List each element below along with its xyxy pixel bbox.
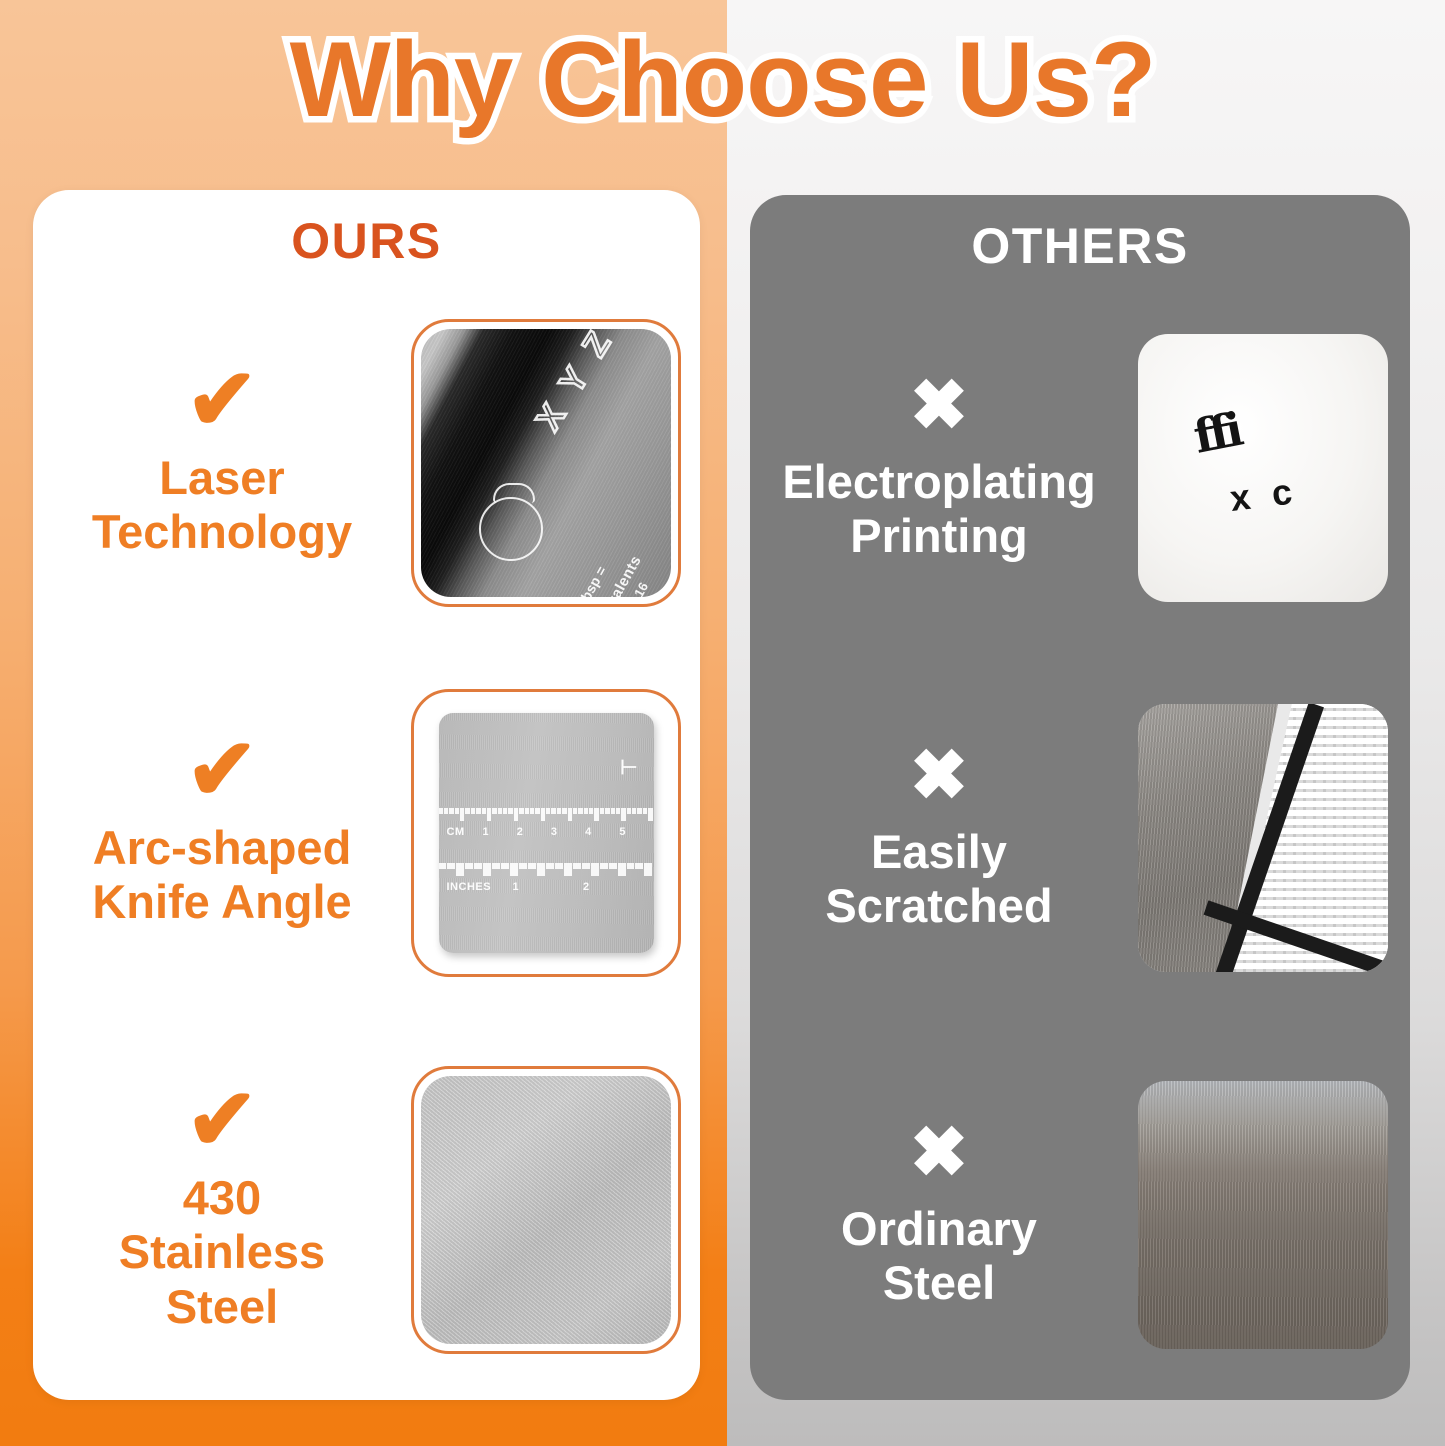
ruler-inch-numbers: 1 2 bbox=[439, 881, 654, 893]
others-row-3-text: ✖ Ordinary Steel bbox=[750, 1119, 1128, 1311]
ours-row-430-stainless-steel: ✔ 430 Stainless Steel bbox=[33, 1045, 700, 1375]
others-row-3-label-line1: Ordinary bbox=[760, 1202, 1118, 1257]
comparison-infographic: Why Choose Us? OURS ✔ Laser Technology X… bbox=[0, 0, 1445, 1446]
checkmark-icon: ✔ bbox=[43, 366, 401, 435]
x-mark-icon: ✖ bbox=[760, 372, 1118, 439]
others-row-2-label-line2: Scratched bbox=[760, 879, 1118, 934]
flaking-letters-bottom: x c bbox=[1228, 470, 1301, 520]
x-mark-icon: ✖ bbox=[760, 1119, 1118, 1186]
brushed-stainless-steel-photo bbox=[421, 1076, 671, 1344]
others-row-3-label-line2: Steel bbox=[760, 1256, 1118, 1311]
engraved-letters: X Y Z bbox=[529, 329, 622, 438]
ours-row-3-text: ✔ 430 Stainless Steel bbox=[33, 1086, 411, 1334]
x-mark-icon: ✖ bbox=[760, 742, 1118, 809]
others-row-2-text: ✖ Easily Scratched bbox=[750, 742, 1128, 934]
others-header: OTHERS bbox=[750, 217, 1410, 275]
engraved-corner-bracket: ⊢ bbox=[620, 755, 637, 780]
ruler-cm-number: 1 bbox=[483, 826, 517, 838]
ruler-cm-numbers: 1 2 3 4 5 bbox=[439, 826, 654, 838]
others-row-1-label: Electroplating Printing bbox=[760, 455, 1118, 564]
ours-panel: OURS ✔ Laser Technology X Y Z Measure Eq… bbox=[33, 190, 700, 1400]
others-row-2-label-line1: Easily bbox=[760, 825, 1118, 880]
others-row-1-image-wrap: ffi x c bbox=[1128, 334, 1398, 602]
scratched-metal-mesh-photo bbox=[1138, 704, 1388, 972]
ours-header: OURS bbox=[33, 212, 700, 270]
engraved-cup-row: cup = fl oz = tbsp = bbox=[534, 563, 609, 597]
ours-row-1-text: ✔ Laser Technology bbox=[33, 366, 411, 560]
ours-row-1-label: Laser Technology bbox=[43, 451, 401, 560]
ours-row-2-label-line2: Knife Angle bbox=[43, 875, 401, 930]
ours-row-3-label-line3: Steel bbox=[43, 1280, 401, 1335]
ruler-edge-plate-photo: ⊢ CM 1 2 3 bbox=[439, 713, 654, 953]
ours-row-1-label-line2: Technology bbox=[43, 505, 401, 560]
ruler-inch-ticks bbox=[439, 863, 654, 877]
ours-row-laser-technology: ✔ Laser Technology X Y Z Measure Equival… bbox=[33, 298, 700, 628]
ours-row-2-label: Arc-shaped Knife Angle bbox=[43, 821, 401, 930]
ours-row-arc-shaped-knife-angle: ✔ Arc-shaped Knife Angle ⊢ bbox=[33, 668, 700, 998]
ruler-inch-number: 2 bbox=[583, 881, 654, 893]
ruler-cm-number: 5 bbox=[619, 826, 653, 838]
ruler-cm-number: 3 bbox=[551, 826, 585, 838]
checkmark-icon: ✔ bbox=[43, 1086, 401, 1155]
ours-row-2-text: ✔ Arc-shaped Knife Angle bbox=[33, 736, 411, 930]
laser-etched-steel-photo: X Y Z Measure Equivalents cup = fl oz = … bbox=[421, 329, 671, 597]
others-row-1-label-line1: Electroplating bbox=[760, 455, 1118, 510]
ruler-inch-number: 1 bbox=[513, 881, 584, 893]
dull-ordinary-steel-photo bbox=[1138, 1081, 1388, 1349]
ours-row-2-label-line1: Arc-shaped bbox=[43, 821, 401, 876]
others-row-2-image-wrap bbox=[1128, 704, 1398, 972]
others-row-1-text: ✖ Electroplating Printing bbox=[750, 372, 1128, 564]
ours-row-3-label: 430 Stainless Steel bbox=[43, 1171, 401, 1335]
others-row-1-label-line2: Printing bbox=[760, 509, 1118, 564]
ours-row-2-image-frame: ⊢ CM 1 2 3 bbox=[411, 689, 681, 977]
others-row-easily-scratched: ✖ Easily Scratched bbox=[750, 673, 1410, 1003]
others-panel: OTHERS ✖ Electroplating Printing ffi x c… bbox=[750, 195, 1410, 1400]
flaking-letters-top: ffi bbox=[1189, 402, 1244, 464]
ruler-cm-number: 2 bbox=[517, 826, 551, 838]
checkmark-icon: ✔ bbox=[43, 736, 401, 805]
ours-row-3-label-line1: 430 bbox=[43, 1171, 401, 1226]
engraved-chef-icon bbox=[479, 497, 543, 561]
others-row-3-image-wrap bbox=[1128, 1081, 1398, 1349]
others-row-ordinary-steel: ✖ Ordinary Steel bbox=[750, 1050, 1410, 1380]
ours-row-1-image-frame: X Y Z Measure Equivalents cup = fl oz = … bbox=[411, 319, 681, 607]
ruler-cm-number: 4 bbox=[585, 826, 619, 838]
ours-row-3-label-line2: Stainless bbox=[43, 1225, 401, 1280]
others-row-electroplating-printing: ✖ Electroplating Printing ffi x c bbox=[750, 303, 1410, 633]
others-row-3-label: Ordinary Steel bbox=[760, 1202, 1118, 1311]
ours-row-3-image-frame bbox=[411, 1066, 681, 1354]
page-title: Why Choose Us? bbox=[0, 17, 1445, 141]
others-row-2-label: Easily Scratched bbox=[760, 825, 1118, 934]
ruler-cm-ticks bbox=[439, 808, 654, 822]
flaking-printed-surface-photo: ffi x c bbox=[1138, 334, 1388, 602]
ours-row-1-label-line1: Laser bbox=[43, 451, 401, 506]
